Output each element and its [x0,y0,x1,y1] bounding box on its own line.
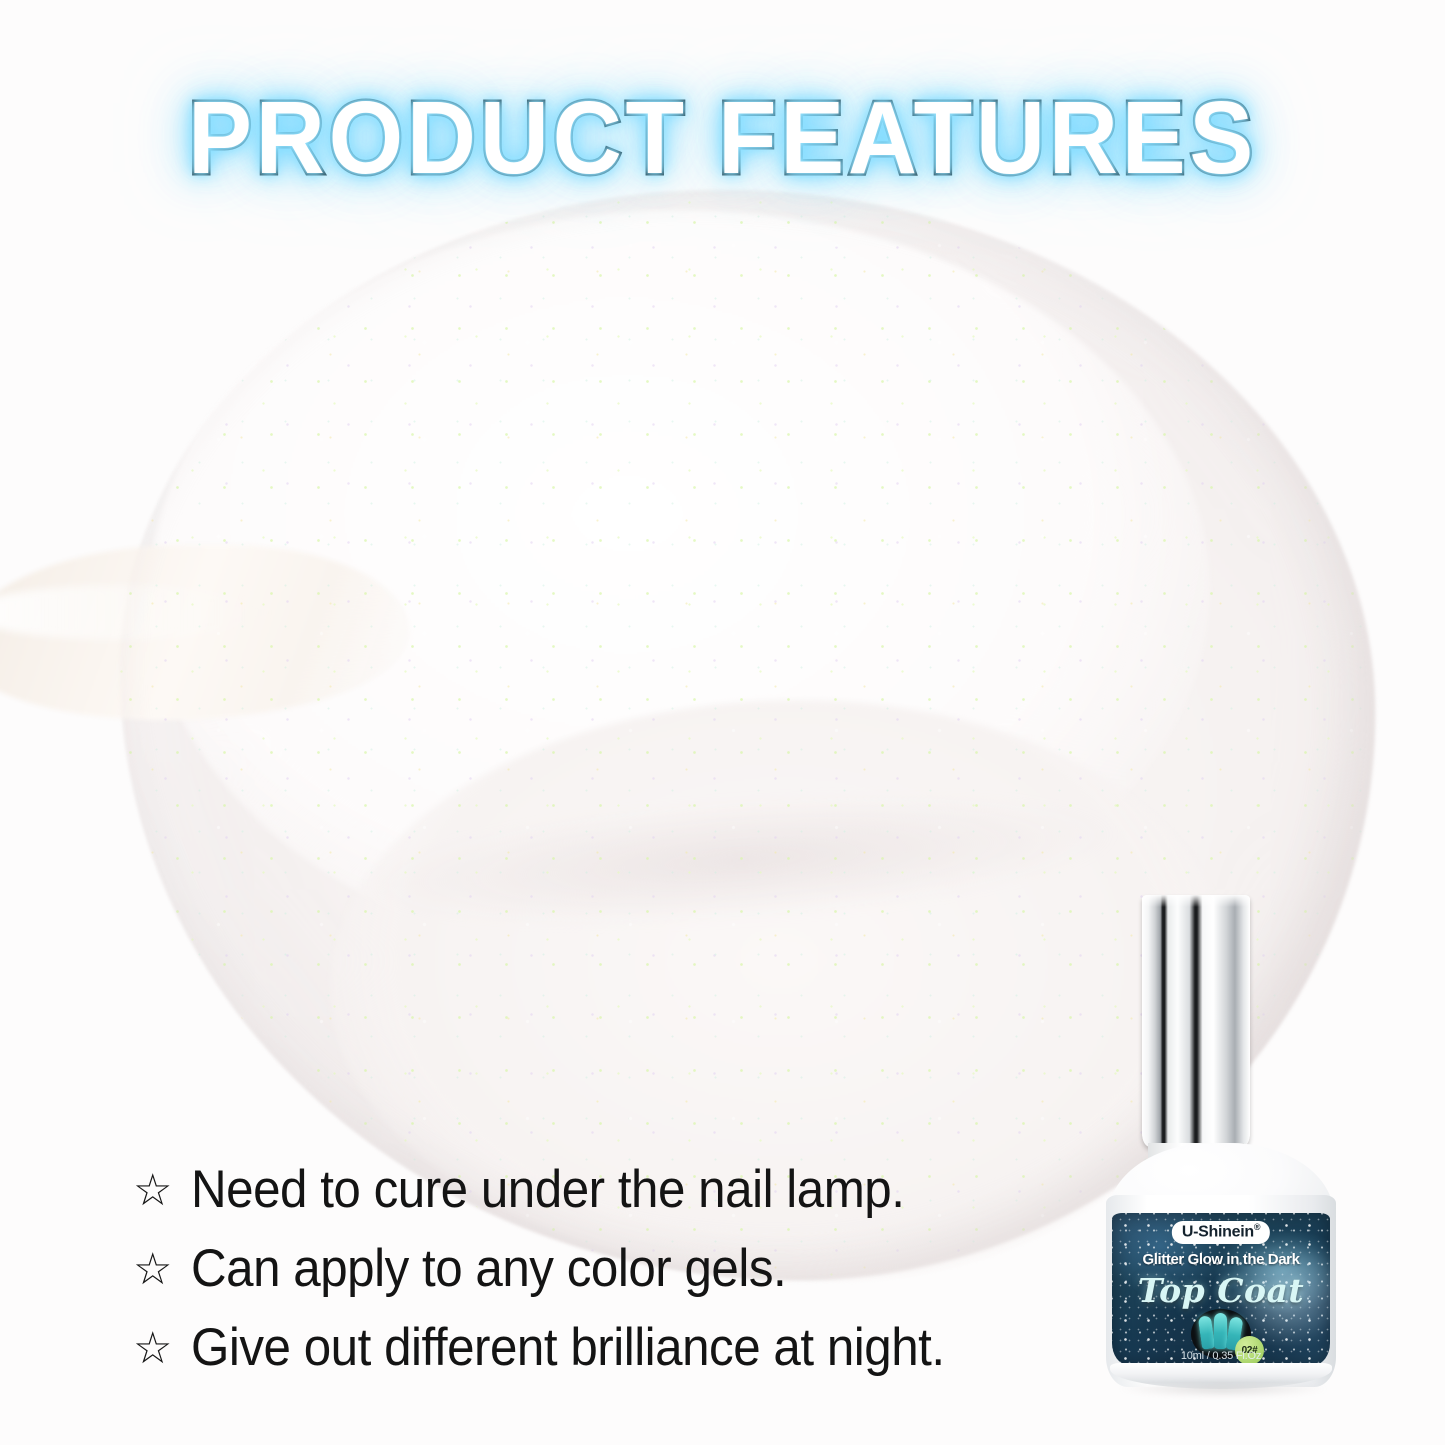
star-outline-icon: ☆ [133,1327,172,1371]
nail-shape-icon [1214,1313,1227,1349]
nail-shape-icon [1198,1315,1215,1349]
bottle-cap-highlight [1142,895,1250,907]
label-subtitle: Glitter Glow in the Dark [1112,1251,1330,1268]
bottle-drop-shadow [1120,1381,1326,1397]
gel-blob-crease [357,774,1124,947]
label-product-name: Top Coat [1112,1271,1330,1310]
label-volume: 10ml / 0.35 Fl.Oz [1112,1350,1330,1362]
feature-text: Need to cure under the nail lamp. [191,1163,904,1216]
feature-item: ☆ Need to cure under the nail lamp. [133,1163,1113,1242]
bottle-label: U-Shinein® Glitter Glow in the Dark Top … [1112,1213,1330,1365]
page-title: PRODUCT FEATURES [51,86,1395,189]
brand-name: U-Shinein® [1172,1221,1270,1244]
star-outline-icon: ☆ [133,1248,172,1292]
feature-text: Give out different brilliance at night. [191,1321,945,1374]
trademark-symbol: ® [1254,1222,1260,1232]
gel-blob-highlight-upper [150,210,1210,970]
product-bottle: U-Shinein® Glitter Glow in the Dark Top … [1096,895,1346,1395]
gel-brush-smear [0,545,410,720]
brand-text: U-Shinein [1182,1223,1254,1240]
star-outline-icon: ☆ [133,1169,172,1213]
feature-text: Can apply to any color gels. [191,1242,786,1295]
bottle-cap [1142,895,1250,1147]
feature-list: ☆ Need to cure under the nail lamp. ☆ Ca… [133,1163,1113,1400]
product-feature-banner: PRODUCT FEATURES ☆ Need to cure under th… [0,0,1445,1445]
gel-brush-smear-highlight [0,585,270,640]
feature-item: ☆ Can apply to any color gels. [133,1242,1113,1321]
feature-item: ☆ Give out different brilliance at night… [133,1321,1113,1400]
